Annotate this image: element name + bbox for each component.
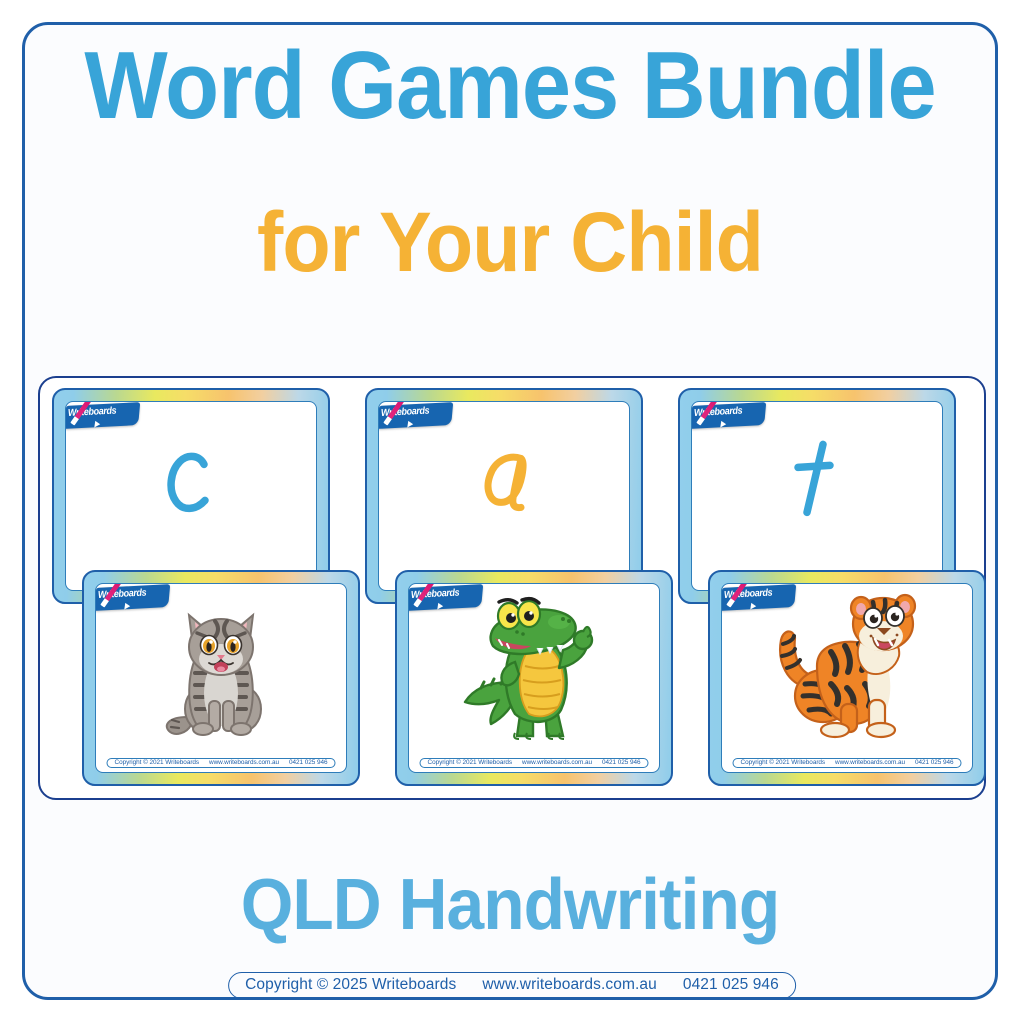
card-picture-cat-surface: Writeboards [95,583,347,773]
card-footer-copyright: Copyright © 2021 Writeboards [741,759,826,766]
handwriting-letter-a [379,434,629,544]
card-footer-website: www.writeboards.com.au [209,759,279,766]
card-picture-cat[interactable]: Writeboards [82,570,360,786]
card-picture-tiger[interactable]: Writeboards [708,570,986,786]
card-footer: Copyright © 2021 Writeboards www.writebo… [107,758,336,768]
tiger-illustration [722,590,972,746]
writeboards-logo-badge: Writeboards [65,401,143,434]
card-picture-crocodile-surface: Writeboards [408,583,660,773]
poster: Word Games Bundle for Your Child Writebo… [0,0,1024,1024]
card-footer-website: www.writeboards.com.au [835,759,905,766]
page-title-line-1: Word Games Bundle [61,34,959,138]
page-title-line-2: for Your Child [51,192,968,292]
writeboards-logo-badge: Writeboards [378,401,456,434]
card-picture-crocodile[interactable]: Writeboards [395,570,673,786]
card-footer-copyright: Copyright © 2021 Writeboards [115,759,200,766]
cat-illustration [96,590,346,746]
card-footer: Copyright © 2021 Writeboards www.writebo… [733,758,962,768]
footer-website: www.writeboards.com.au [482,976,657,994]
card-letter-c-surface: Writeboards [65,401,317,591]
footer-copyright: Copyright © 2025 Writeboards [245,976,456,994]
footer-phone: 0421 025 946 [683,976,779,994]
card-footer-phone: 0421 025 946 [289,759,328,766]
card-footer: Copyright © 2021 Writeboards www.writebo… [420,758,649,768]
handwriting-letter-c [66,434,316,544]
card-letter-t-surface: Writeboards [691,401,943,591]
writeboards-logo-badge: Writeboards [691,401,769,434]
card-picture-tiger-surface: Writeboards [721,583,973,773]
card-letter-a-surface: Writeboards [378,401,630,591]
page-footer: Copyright © 2025 Writeboards www.writebo… [228,972,796,999]
card-footer-phone: 0421 025 946 [915,759,954,766]
card-footer-website: www.writeboards.com.au [522,759,592,766]
handwriting-letter-t [692,434,942,544]
flashcards-panel: Writeboards Writeboards [38,376,986,800]
crocodile-illustration [409,590,659,746]
card-footer-copyright: Copyright © 2021 Writeboards [428,759,513,766]
card-footer-phone: 0421 025 946 [602,759,641,766]
page-subtitle: QLD Handwriting [51,862,968,948]
